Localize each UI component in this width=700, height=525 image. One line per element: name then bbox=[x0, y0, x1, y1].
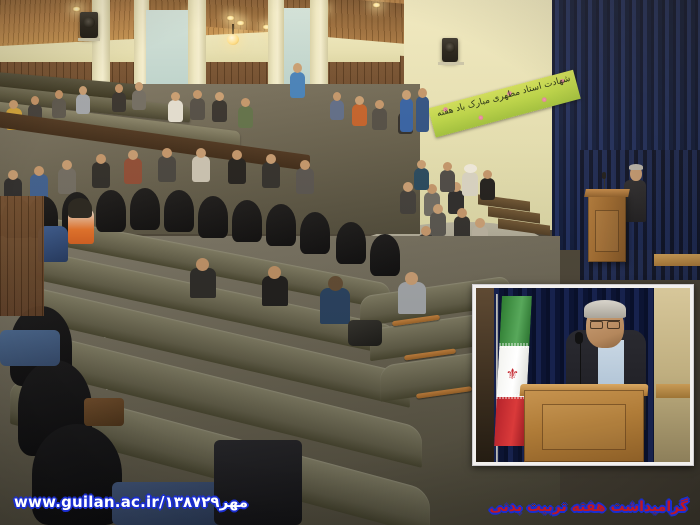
audience-head bbox=[128, 150, 138, 160]
seated-woman-chador bbox=[198, 196, 228, 238]
audience-head bbox=[8, 170, 18, 180]
seated-person-dark-trousers bbox=[214, 440, 302, 525]
audience-head bbox=[457, 208, 467, 218]
inset-right-wall bbox=[654, 288, 690, 462]
seated-person-head bbox=[405, 272, 418, 285]
speaker-at-podium bbox=[624, 180, 646, 222]
audience-person bbox=[430, 212, 446, 236]
audience-head bbox=[355, 96, 364, 105]
audience-head bbox=[483, 170, 492, 179]
audience-head bbox=[475, 218, 485, 228]
audience-person bbox=[52, 98, 66, 118]
audience-person bbox=[190, 98, 205, 120]
standing-person-head bbox=[402, 90, 411, 100]
seated-person-jeans bbox=[0, 330, 60, 366]
audience-person bbox=[290, 72, 305, 98]
speaker-hair bbox=[629, 164, 643, 170]
audience-head bbox=[55, 90, 63, 99]
flag-red-band bbox=[494, 397, 527, 447]
photograph-canvas: شهادت استاد مطهری مبارک باد هفته تربیت ب… bbox=[0, 0, 700, 525]
ceiling-light bbox=[226, 15, 235, 21]
audience-person bbox=[238, 106, 253, 128]
stage-bench bbox=[654, 254, 700, 266]
wooden-lectern bbox=[588, 194, 626, 262]
flag-emblem-icon: ⚜ bbox=[504, 367, 520, 383]
seated-person-head bbox=[196, 258, 209, 271]
left-wall-panel bbox=[0, 196, 44, 316]
inset-lectern-front-panel bbox=[542, 404, 626, 450]
audience-person bbox=[58, 168, 76, 194]
website-url-watermark: www.guilan.ac.ir/۱۳۸۷مهر۲۹ bbox=[14, 493, 248, 511]
audience-person bbox=[168, 100, 183, 122]
inset-wooden-bench bbox=[656, 384, 690, 398]
wall-mounted-loudspeaker bbox=[442, 38, 458, 62]
seated-woman-chador bbox=[232, 200, 262, 242]
audience-person bbox=[440, 170, 455, 192]
audience-head bbox=[31, 96, 39, 105]
event-title-watermark: گرامیداشت هفته تربیت بدنی bbox=[489, 499, 688, 515]
clergy-person bbox=[462, 172, 478, 196]
seated-person bbox=[320, 288, 350, 324]
audience-person bbox=[92, 162, 110, 188]
inset-close-up-photo: ⚜ bbox=[472, 284, 694, 466]
ceiling-light bbox=[72, 6, 81, 12]
audience-person bbox=[372, 108, 387, 130]
audience-person bbox=[262, 162, 280, 188]
wall-mounted-loudspeaker bbox=[80, 12, 98, 38]
speaker-bracket bbox=[438, 62, 464, 65]
audience-head bbox=[232, 150, 242, 160]
speaker-bracket bbox=[78, 38, 100, 41]
audience-head bbox=[162, 148, 172, 158]
audience-head bbox=[421, 226, 431, 236]
audience-person bbox=[296, 168, 314, 194]
audience-head bbox=[375, 100, 384, 109]
seated-person-head bbox=[328, 276, 343, 291]
lectern-front-panel bbox=[595, 210, 619, 252]
audience-person bbox=[124, 158, 142, 184]
audience-person bbox=[480, 178, 495, 200]
seated-woman-chador bbox=[336, 222, 366, 264]
ceiling-light bbox=[372, 2, 381, 8]
seated-person bbox=[190, 268, 216, 298]
inset-photo-content: ⚜ bbox=[476, 288, 690, 462]
inset-speaker-hair bbox=[584, 300, 626, 318]
audience-person bbox=[132, 90, 146, 110]
seated-woman-chador bbox=[370, 234, 400, 276]
backpack bbox=[348, 320, 382, 346]
audience-head bbox=[62, 160, 72, 170]
audience-head bbox=[403, 182, 413, 192]
audience-person bbox=[228, 158, 246, 184]
podium-microphone bbox=[602, 172, 606, 179]
audience-head bbox=[443, 162, 452, 171]
audience-person bbox=[414, 168, 429, 190]
bag-on-lap bbox=[84, 398, 124, 426]
inset-left-wall bbox=[476, 288, 494, 462]
audience-head bbox=[193, 90, 202, 99]
audience-head bbox=[79, 86, 87, 95]
audience-head bbox=[135, 82, 143, 91]
standing-person bbox=[400, 98, 413, 132]
audience-person bbox=[76, 94, 90, 114]
standing-person bbox=[416, 96, 429, 132]
audience-person bbox=[352, 104, 367, 126]
flag-kufic-script-top bbox=[499, 343, 529, 348]
standing-person-head bbox=[418, 88, 427, 98]
audience-head bbox=[9, 100, 18, 109]
audience-person bbox=[112, 92, 126, 112]
audience-head bbox=[333, 92, 341, 101]
seated-woman-chador bbox=[96, 190, 126, 232]
audience-head bbox=[293, 63, 302, 73]
audience-person bbox=[400, 190, 416, 214]
audience-head bbox=[433, 204, 443, 214]
audience-head bbox=[96, 154, 106, 164]
seated-woman-chador bbox=[130, 188, 160, 230]
inset-wooden-lectern bbox=[524, 390, 644, 462]
clergy-turban bbox=[464, 164, 477, 173]
seated-woman-headscarf bbox=[68, 198, 92, 218]
seated-woman-chador bbox=[164, 190, 194, 232]
seated-person bbox=[262, 276, 288, 306]
seated-person bbox=[398, 282, 426, 314]
inset-speaker-glasses bbox=[590, 320, 620, 328]
ceiling-light bbox=[236, 20, 245, 26]
audience-head bbox=[196, 148, 206, 158]
audience-head bbox=[171, 92, 180, 101]
seated-woman-chador bbox=[300, 212, 330, 254]
audience-head bbox=[115, 84, 123, 93]
inset-microphone bbox=[575, 332, 583, 344]
audience-head bbox=[266, 154, 276, 164]
audience-person bbox=[192, 156, 210, 182]
audience-person bbox=[158, 156, 176, 182]
audience-person bbox=[330, 100, 344, 120]
audience-head bbox=[34, 166, 44, 176]
audience-person bbox=[212, 100, 227, 122]
pendant-light bbox=[232, 24, 234, 36]
audience-head bbox=[417, 160, 426, 169]
audience-head bbox=[300, 160, 310, 170]
flag-green-band bbox=[499, 296, 532, 346]
audience-head bbox=[215, 92, 224, 101]
seated-person-head bbox=[268, 266, 281, 279]
audience-head bbox=[241, 98, 250, 107]
seated-woman-chador bbox=[266, 204, 296, 246]
